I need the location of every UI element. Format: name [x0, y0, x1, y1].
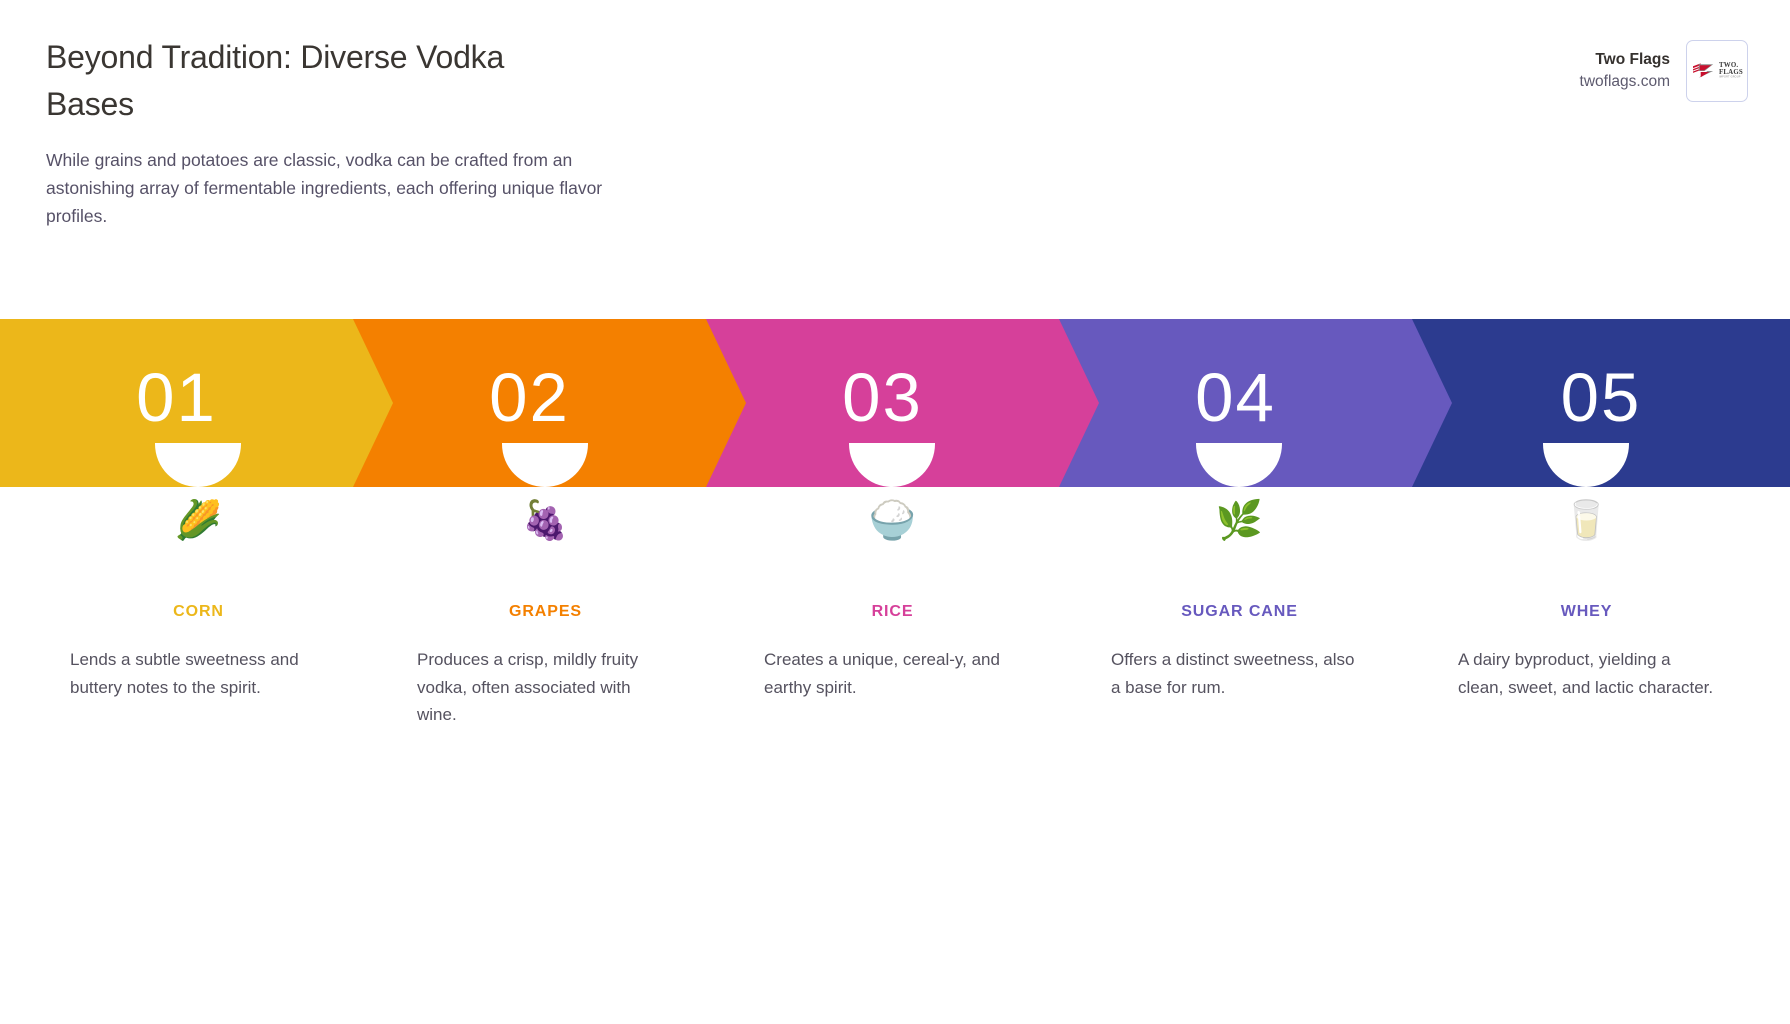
- step-card-body-4: 🌿 SUGAR CANE Offers a distinct sweetness…: [1087, 498, 1392, 701]
- step-card-body-1: 🌽 CORN Lends a subtle sweetness and butt…: [46, 498, 351, 701]
- step-description-2: Produces a crisp, mildly fruity vodka, o…: [415, 646, 676, 729]
- step-description-5: A dairy byproduct, yielding a clean, swe…: [1456, 646, 1717, 701]
- step-card-body-5: 🥛 WHEY A dairy byproduct, yielding a cle…: [1434, 498, 1739, 701]
- header: Beyond Tradition: Diverse Vodka Bases Wh…: [0, 0, 1790, 250]
- brand-name: Two Flags: [1580, 49, 1670, 71]
- step-description-3: Creates a unique, cereal-y, and earthy s…: [762, 646, 1023, 701]
- brand-text: Two Flags twoflags.com: [1580, 49, 1670, 94]
- step-label-4: SUGAR CANE: [1109, 603, 1370, 621]
- grapes-emoji: 🍇: [415, 498, 676, 544]
- step-label-3: RICE: [762, 603, 1023, 621]
- glass-of-milk-emoji: 🥛: [1456, 498, 1717, 544]
- step-number-3: 03: [842, 363, 923, 432]
- step-number-1: 01: [136, 363, 217, 432]
- flag-mark-icon: [1692, 61, 1717, 80]
- step-number-4: 04: [1195, 363, 1276, 432]
- herb-emoji: 🌿: [1109, 498, 1370, 544]
- step-card-body-3: 🍚 RICE Creates a unique, cereal-y, and e…: [740, 498, 1045, 701]
- brand-logo-box: TWO. FLAGS IMPORT GROUP: [1686, 40, 1748, 102]
- step-card-body-2: 🍇 GRAPES Produces a crisp, mildly fruity…: [393, 498, 698, 729]
- logo-word-line3: IMPORT GROUP: [1718, 77, 1742, 79]
- two-flags-logo-icon: TWO. FLAGS IMPORT GROUP: [1692, 61, 1743, 80]
- logo-wordmark: TWO. FLAGS IMPORT GROUP: [1718, 62, 1742, 79]
- header-text-block: Beyond Tradition: Diverse Vodka Bases Wh…: [46, 34, 746, 231]
- page-title: Beyond Tradition: Diverse Vodka Bases: [46, 34, 516, 129]
- step-label-5: WHEY: [1456, 603, 1717, 621]
- step-description-1: Lends a subtle sweetness and buttery not…: [68, 646, 329, 701]
- step-number-5: 05: [1561, 363, 1642, 432]
- corn-emoji: 🌽: [68, 498, 329, 544]
- infographic-page: Beyond Tradition: Diverse Vodka Bases Wh…: [0, 0, 1790, 1024]
- step-label-1: CORN: [68, 603, 329, 621]
- step-number-2: 02: [489, 363, 570, 432]
- brand-url[interactable]: twoflags.com: [1580, 71, 1670, 93]
- step-label-2: GRAPES: [415, 603, 676, 621]
- step-description-4: Offers a distinct sweetness, also a base…: [1109, 646, 1370, 701]
- brand-block: Two Flags twoflags.com TWO. FLAGS: [1580, 40, 1748, 102]
- rice-bowl-emoji: 🍚: [762, 498, 1023, 544]
- page-subtitle: While grains and potatoes are classic, v…: [46, 146, 661, 231]
